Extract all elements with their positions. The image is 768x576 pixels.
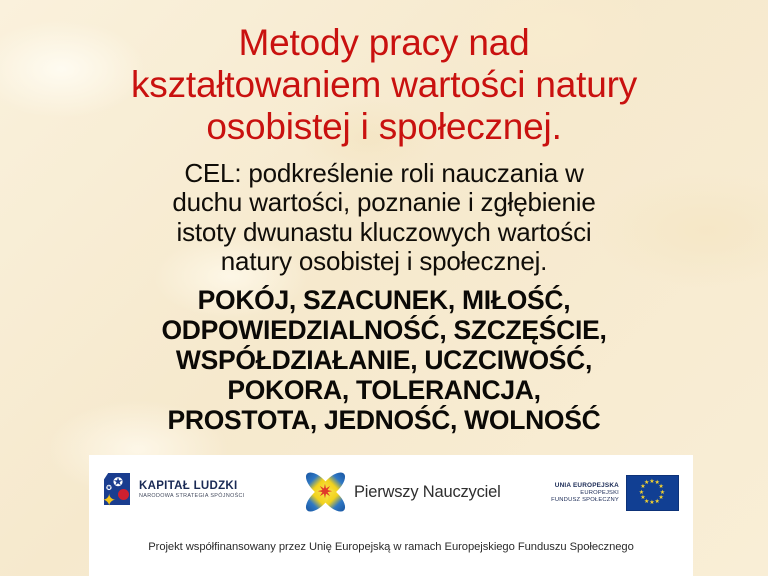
unia-europejska-line2: EUROPEJSKI bbox=[551, 490, 619, 497]
eu-star-icon: ★ bbox=[649, 500, 655, 506]
pierwszy-nauczyciel-title: Pierwszy Nauczyciel bbox=[354, 483, 501, 502]
kapital-ludzki-flag-icon: ✪ ✪ ✦ bbox=[102, 473, 132, 507]
pn-core-starburst-icon: ✷ bbox=[317, 484, 334, 501]
sponsor-caption: Projekt współfinansowany przez Unię Euro… bbox=[89, 541, 693, 553]
kl-red-circle-icon bbox=[118, 489, 129, 500]
eu-star-icon: ★ bbox=[654, 499, 660, 505]
kapital-ludzki-text: KAPITAŁ LUDZKI NARODOWA STRATEGIA SPÓJNO… bbox=[139, 480, 245, 499]
eu-star-icon: ★ bbox=[639, 490, 645, 496]
page-title: Metody pracy nad kształtowaniem wartości… bbox=[28, 22, 740, 149]
sponsor-logo-row: ✪ ✪ ✦ KAPITAŁ LUDZKI NARODOWA STRATEGIA … bbox=[89, 469, 693, 527]
eu-flag-icon: ★★★★★★★★★★★★ bbox=[626, 475, 679, 511]
slide-values-list: POKÓJ, SZACUNEK, MIŁOŚĆ, ODPOWIEDZIALNOŚ… bbox=[28, 285, 740, 435]
unia-europejska-text: UNIA EUROPEJSKA EUROPEJSKI FUNDUSZ SPOŁE… bbox=[551, 482, 619, 503]
logo-kapital-ludzki: ✪ ✪ ✦ KAPITAŁ LUDZKI NARODOWA STRATEGIA … bbox=[102, 473, 245, 507]
eu-star-icon: ★ bbox=[644, 480, 650, 486]
presentation-slide: Metody pracy nad kształtowaniem wartości… bbox=[0, 0, 768, 576]
eu-star-icon: ★ bbox=[640, 495, 646, 501]
kl-yellow-star-icon: ✦ bbox=[102, 492, 116, 509]
slide-text-column: Metody pracy nad kształtowaniem wartości… bbox=[28, 22, 740, 435]
sponsor-banner: ✪ ✪ ✦ KAPITAŁ LUDZKI NARODOWA STRATEGIA … bbox=[89, 455, 693, 576]
logo-unia-europejska: UNIA EUROPEJSKA EUROPEJSKI FUNDUSZ SPOŁE… bbox=[551, 475, 679, 511]
logo-pierwszy-nauczyciel: ✷ Pierwszy Nauczyciel bbox=[304, 471, 501, 513]
kapital-ludzki-subtitle: NARODOWA STRATEGIA SPÓJNOŚCI bbox=[139, 494, 245, 500]
unia-europejska-line1: UNIA EUROPEJSKA bbox=[551, 482, 619, 490]
unia-europejska-line3: FUNDUSZ SPOŁECZNY bbox=[551, 497, 619, 504]
kapital-ludzki-title: KAPITAŁ LUDZKI bbox=[139, 480, 245, 492]
flower-pinwheel-icon: ✷ bbox=[304, 471, 346, 513]
kl-star-icon: ✪ bbox=[113, 476, 123, 488]
slide-goal-paragraph: CEL: podkreślenie roli nauczania w duchu… bbox=[28, 159, 740, 277]
